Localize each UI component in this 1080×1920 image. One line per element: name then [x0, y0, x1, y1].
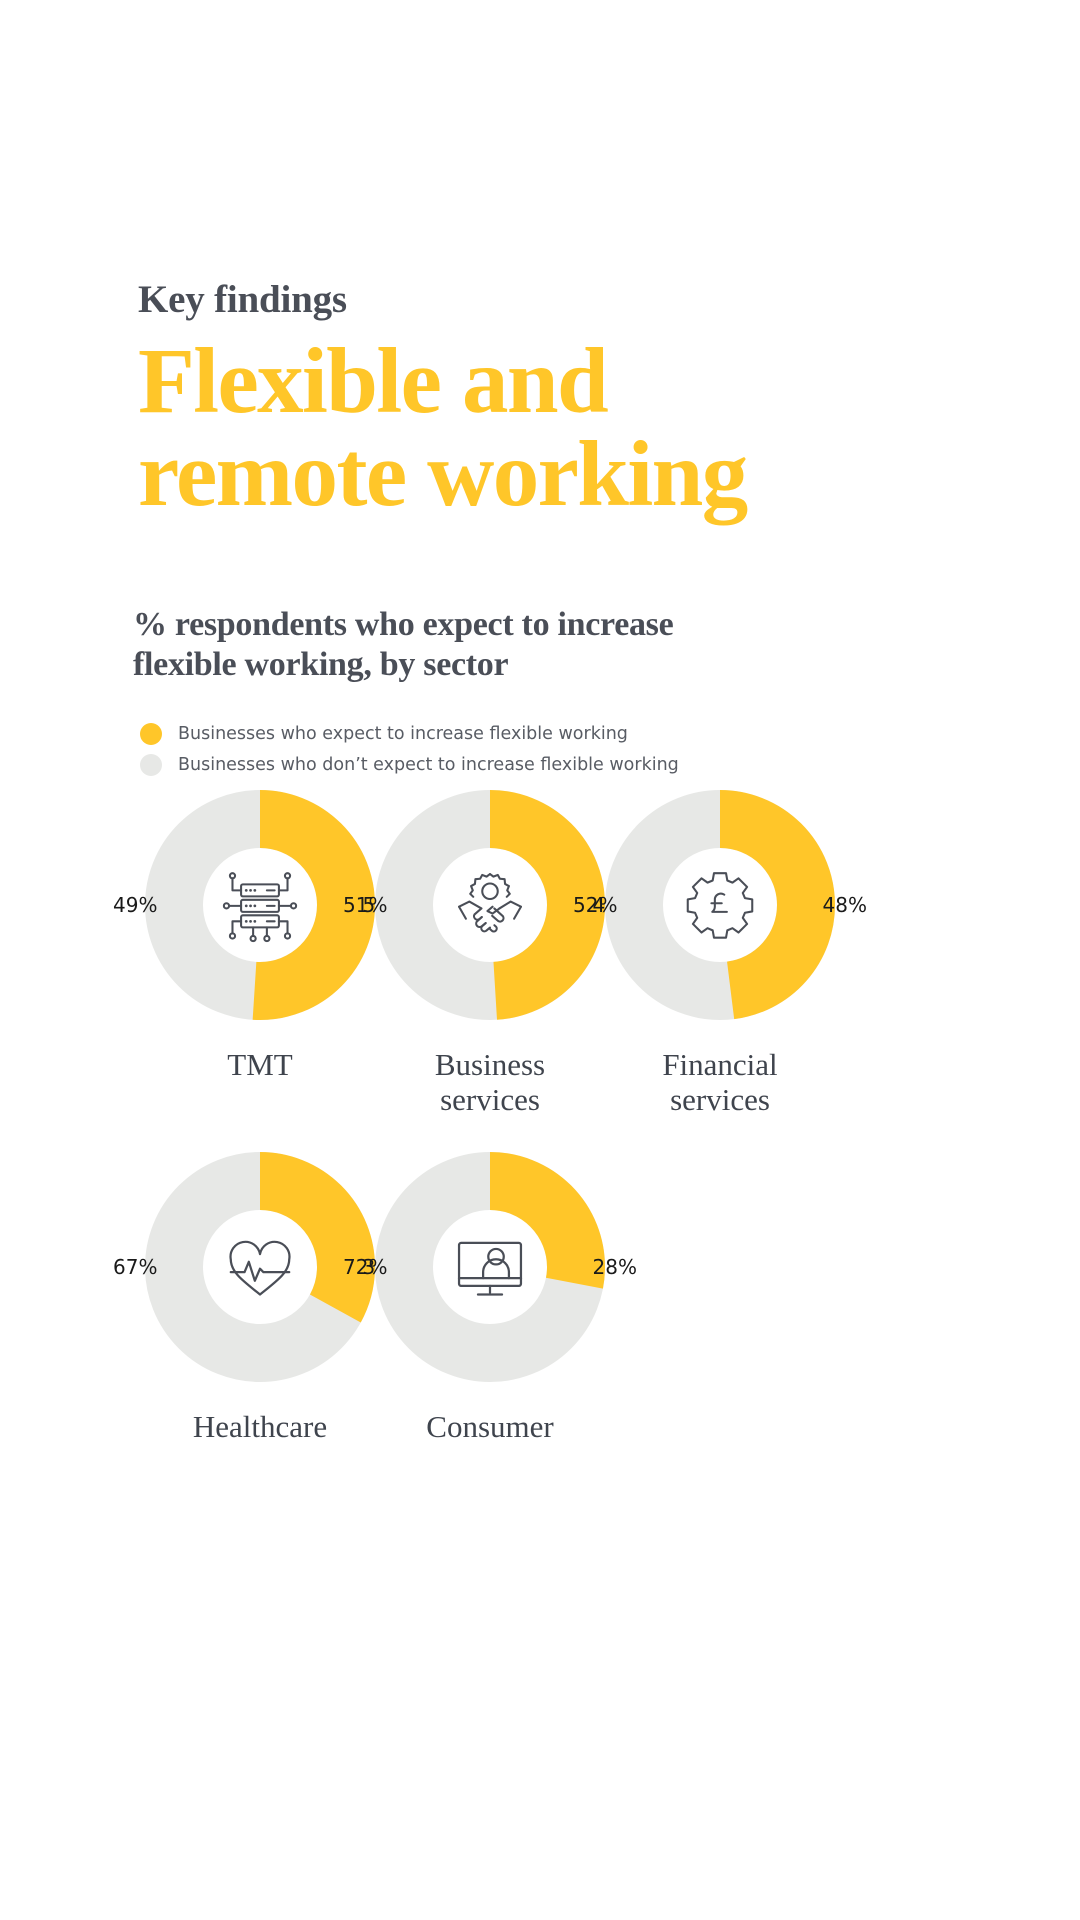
- server-rack-icon: [217, 862, 303, 948]
- donut-tmt-no-pct: 49%: [113, 895, 157, 915]
- infographic-page: Key findings Flexible and remote working…: [0, 0, 1080, 1920]
- heart-pulse-icon: [217, 1224, 303, 1310]
- donut-financial-services-ring: 52% 48%: [605, 790, 835, 1020]
- donut-chart-grid: 49% 51% TMT: [0, 790, 1080, 1522]
- donut-consumer: 72% 28% Consumer: [340, 1152, 640, 1445]
- chart-subtitle-line1: % respondents who expect to increase: [133, 606, 673, 643]
- header-block: Key findings Flexible and remote working: [138, 280, 958, 521]
- donut-financial-services: 52% 48% Financial services: [570, 790, 870, 1117]
- gear-pound-icon: [677, 862, 763, 948]
- yellow-dot-icon: [140, 723, 162, 745]
- donut-row-2: 67% 33% Healthcare: [0, 1152, 1080, 1522]
- handshake-gear-icon: [447, 862, 533, 948]
- legend-item-no-label: Businesses who don’t expect to increase …: [178, 755, 679, 775]
- chart-subtitle-line2: flexible working, by sector: [133, 646, 508, 683]
- donut-tmt-label-line1: TMT: [227, 1047, 292, 1082]
- donut-financial-services-label: Financial services: [570, 1048, 870, 1117]
- chart-legend: Businesses who expect to increase flexib…: [140, 718, 880, 780]
- donut-consumer-ring: 72% 28%: [375, 1152, 605, 1382]
- legend-item-yes: Businesses who expect to increase flexib…: [140, 718, 880, 749]
- legend-item-yes-label: Businesses who expect to increase flexib…: [178, 724, 628, 744]
- donut-row-1: 49% 51% TMT: [0, 790, 1080, 1160]
- eyebrow-label: Key findings: [138, 280, 958, 321]
- donut-financial-services-label-line1: Financial: [662, 1047, 777, 1082]
- donut-financial-services-no-pct: 52%: [573, 895, 617, 915]
- chart-subtitle: % respondents who expect to increase fle…: [133, 605, 833, 685]
- page-title-line1: Flexible and: [138, 330, 607, 433]
- legend-item-no: Businesses who don’t expect to increase …: [140, 749, 880, 780]
- donut-financial-services-label-line2: services: [570, 1083, 870, 1118]
- donut-financial-services-yes-pct: 48%: [823, 895, 867, 915]
- grey-dot-icon: [140, 754, 162, 776]
- donut-healthcare-no-pct: 67%: [113, 1257, 157, 1277]
- page-title: Flexible and remote working: [138, 335, 958, 521]
- donut-consumer-label: Consumer: [340, 1410, 640, 1445]
- donut-business-services-no-pct: 51%: [343, 895, 387, 915]
- donut-consumer-yes-pct: 28%: [593, 1257, 637, 1277]
- donut-business-services-label-line1: Business: [435, 1047, 545, 1082]
- monitor-person-icon: [447, 1224, 533, 1310]
- page-title-line2: remote working: [138, 428, 958, 521]
- donut-consumer-no-pct: 72%: [343, 1257, 387, 1277]
- donut-consumer-label-line1: Consumer: [426, 1409, 553, 1444]
- donut-healthcare-label-line1: Healthcare: [193, 1409, 327, 1444]
